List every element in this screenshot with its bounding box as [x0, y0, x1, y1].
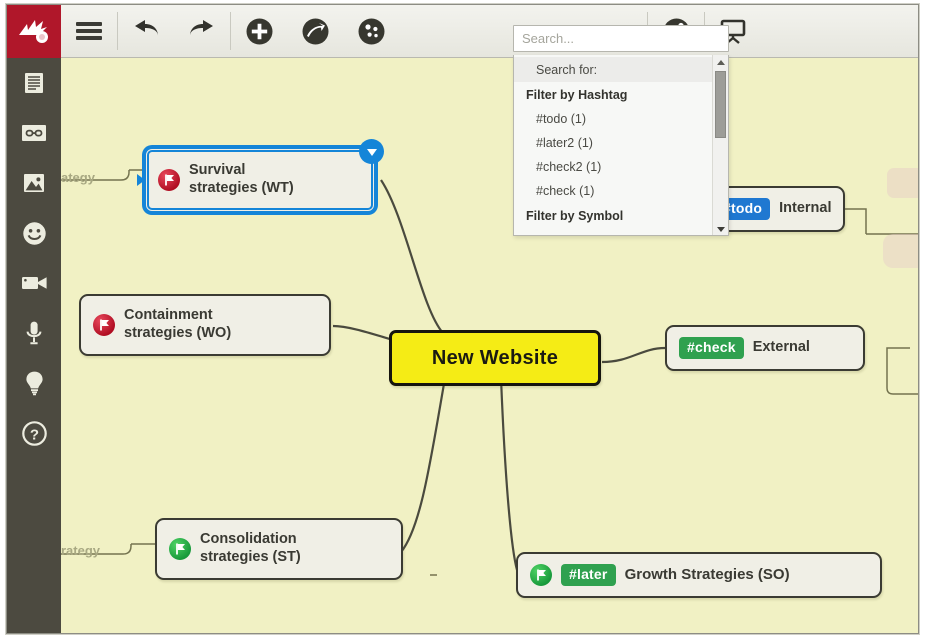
dropdown-search-for-row[interactable]: Search for: — [514, 57, 714, 82]
node-growth-strategies[interactable]: #later Growth Strategies (SO) — [516, 552, 882, 598]
offscreen-label-top: ategy — [61, 170, 95, 185]
dropdown-item-label: #check (1) — [536, 184, 594, 198]
dropdown-item-label: #later2 (1) — [536, 136, 593, 150]
dropdown-item-hashtag-1[interactable]: #later2 (1) — [514, 131, 714, 155]
search-dropdown-list: Search for: Filter by Hashtag #todo (1) … — [514, 55, 714, 236]
add-relationship-button[interactable] — [287, 5, 343, 57]
dropdown-item-hashtag-0[interactable]: #todo (1) — [514, 107, 714, 131]
redo-icon — [187, 18, 217, 44]
help-icon: ? — [22, 421, 47, 446]
relationship-arrow-icon — [302, 18, 329, 45]
sidebar-item-video[interactable] — [7, 258, 61, 308]
image-icon — [22, 171, 46, 195]
selection-arrow-icon — [137, 174, 145, 186]
offscreen-node-ghost-2 — [883, 234, 919, 268]
hamburger-icon — [76, 22, 102, 40]
notes-icon — [22, 71, 46, 95]
video-camera-icon — [21, 273, 48, 293]
node-central-new-website[interactable]: New Website — [389, 330, 601, 386]
app-window: Search for: Filter by Hashtag #todo (1) … — [6, 4, 919, 634]
dropdown-section-symbol: Filter by Symbol — [514, 203, 714, 228]
hashtag-badge-later[interactable]: #later — [561, 564, 616, 586]
node-label: Internal — [779, 200, 831, 218]
palette-icon — [358, 18, 385, 45]
green-flag-icon[interactable] — [530, 564, 552, 586]
app-logo[interactable] — [7, 5, 61, 58]
chevron-down-badge-icon[interactable] — [359, 139, 384, 164]
scrollbar-thumb[interactable] — [715, 71, 726, 138]
node-consolidation-strategies[interactable]: Consolidation strategies (ST) — [155, 518, 403, 580]
hashtag-badge-check[interactable]: #check — [679, 337, 744, 359]
sidebar-item-audio[interactable] — [7, 308, 61, 358]
search-input[interactable] — [513, 25, 729, 52]
node-label: Survival strategies (WT) — [189, 162, 294, 197]
svg-text:?: ? — [29, 426, 38, 443]
lightbulb-icon — [24, 370, 45, 396]
red-flag-icon[interactable] — [158, 169, 180, 191]
link-icon — [21, 122, 47, 144]
dropdown-scrollbar[interactable] — [712, 55, 728, 236]
dropdown-item-label: #check2 (1) — [536, 160, 601, 174]
menu-button[interactable] — [61, 5, 117, 57]
mindmap-app: Search for: Filter by Hashtag #todo (1) … — [0, 0, 927, 641]
dropdown-section-hashtag-label: Filter by Hashtag — [526, 88, 627, 102]
theme-palette-button[interactable] — [343, 5, 399, 57]
dropdown-search-for-label: Search for: — [536, 63, 597, 77]
scroll-up-arrow-icon[interactable] — [713, 55, 728, 69]
plus-circle-icon — [246, 18, 273, 45]
left-sidebar: ? — [7, 58, 61, 634]
red-flag-icon[interactable] — [93, 314, 115, 336]
node-containment-strategies[interactable]: Containment strategies (WO) — [79, 294, 331, 356]
sidebar-item-hyperlink[interactable] — [7, 108, 61, 158]
sidebar-item-notes[interactable] — [7, 58, 61, 108]
scroll-down-arrow-icon[interactable] — [713, 222, 728, 236]
node-label: Containment strategies (WO) — [124, 307, 231, 342]
node-label: Growth Strategies (SO) — [625, 566, 790, 584]
redo-button[interactable] — [174, 5, 230, 57]
central-node-label: New Website — [432, 346, 558, 370]
search-container — [513, 25, 729, 52]
smiley-icon — [22, 221, 47, 246]
node-label: External — [753, 339, 810, 357]
microphone-icon — [24, 320, 44, 346]
dropdown-section-symbol-label: Filter by Symbol — [526, 209, 623, 223]
node-label: Consolidation strategies (ST) — [200, 531, 301, 566]
green-flag-icon[interactable] — [169, 538, 191, 560]
node-external[interactable]: #check External — [665, 325, 865, 371]
sidebar-item-emoji[interactable] — [7, 208, 61, 258]
undo-button[interactable] — [118, 5, 174, 57]
dropdown-item-label: #todo (1) — [536, 112, 586, 126]
offscreen-label-bottom: rategy — [61, 543, 100, 558]
sidebar-item-image[interactable] — [7, 158, 61, 208]
offscreen-node-ghost-1 — [887, 168, 919, 198]
sidebar-item-help[interactable]: ? — [7, 408, 61, 458]
top-toolbar — [7, 5, 919, 58]
dropdown-item-hashtag-3[interactable]: #check (1) — [514, 179, 714, 203]
mindmap-canvas[interactable]: ategy rategy Survival strategies (WT) Co… — [61, 58, 919, 634]
search-dropdown: Search for: Filter by Hashtag #todo (1) … — [513, 55, 729, 236]
dropdown-section-hashtag: Filter by Hashtag — [514, 82, 714, 107]
sidebar-item-idea[interactable] — [7, 358, 61, 408]
dropdown-item-hashtag-2[interactable]: #check2 (1) — [514, 155, 714, 179]
add-topic-button[interactable] — [231, 5, 287, 57]
node-survival-strategies[interactable]: Survival strategies (WT) — [143, 146, 377, 214]
undo-icon — [131, 18, 161, 44]
